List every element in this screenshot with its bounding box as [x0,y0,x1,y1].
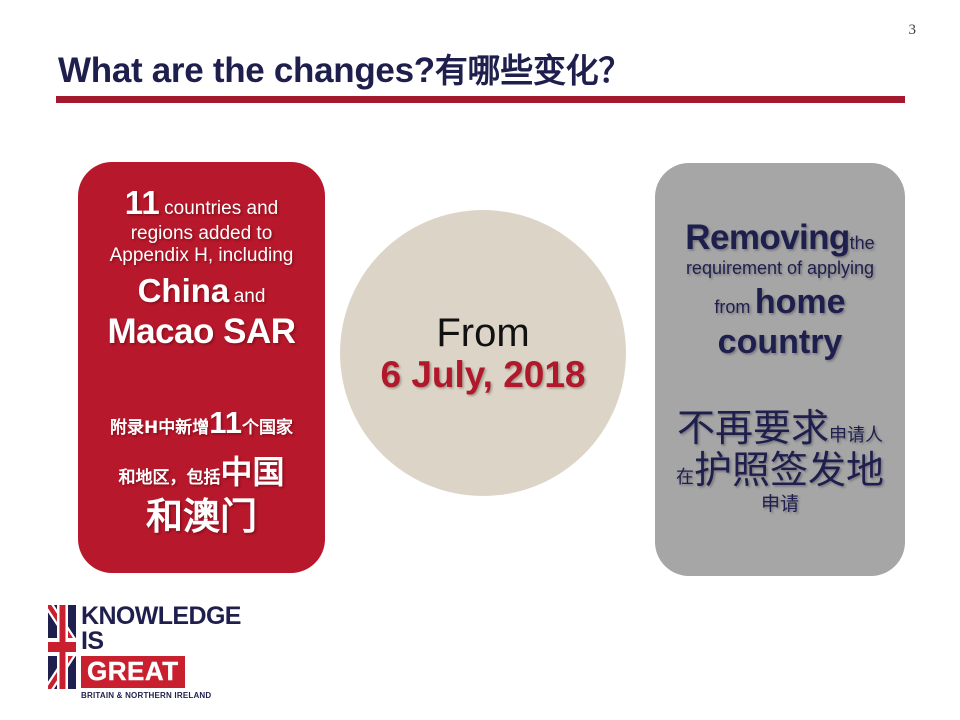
page-title-english: What are the changes? [58,51,435,90]
left-panel-en-line3: Appendix H, including [86,245,317,267]
right-panel-highlight-home: home [755,283,846,321]
effective-date: 6 July, 2018 [380,356,585,395]
right-panel-cn-apply: 申请 [761,493,799,515]
right-panel-english-block: Removingthe requirement of applying from… [655,217,905,362]
right-panel-cn-passport-issue-place: 护照签发地 [694,448,884,492]
right-panel-cn-no-longer-require: 不再要求 [677,406,829,450]
right-panel-highlight-removing: Removing [685,218,849,257]
left-panel-cn-row1-prefix: 附录H中新增 [110,418,209,438]
logo-line-is: IS [81,629,234,654]
left-panel-cn-count: 11 [209,405,242,440]
left-red-panel: 11 countries and regions added to Append… [78,162,325,573]
slide-canvas: 3 What are the changes?有哪些变化？ 11 countri… [0,0,960,720]
left-panel-cn-row1-suffix: 个国家 [242,418,293,438]
page-title-chinese: 有哪些变化？ [435,51,631,90]
left-panel-conjunction: and [234,286,266,307]
logo-line-knowledge: KNOWLEDGE [81,605,234,629]
left-panel-cn-row1: 附录H中新增11个国家 [84,405,319,442]
right-panel-cn-row2: 在护照签发地 [659,451,901,491]
right-panel-small-from: from [714,297,750,317]
left-panel-highlight-macao: Macao SAR [86,311,317,352]
left-panel-chinese-block: 附录H中新增11个国家 和地区，包括中国 和澳门 [78,405,325,535]
left-panel-cn-macao: 和澳门 [146,495,257,538]
title-divider-rule [56,96,905,103]
left-panel-highlight-china: China [138,272,230,309]
left-panel-english-block: 11 countries and regions added to Append… [78,184,325,352]
union-jack-flag-icon [48,605,76,689]
left-panel-en-line1: 11 countries and [86,184,317,223]
right-panel-small-the: the [850,233,875,253]
effective-date-circle: From 6 July, 2018 [340,210,626,496]
logo-line-great: GREAT [87,656,179,686]
right-panel-cn-at: 在 [676,467,694,488]
page-number: 3 [909,22,917,39]
right-panel-en-line1: Removingthe [661,217,899,258]
left-panel-cn-row3: 和澳门 [84,498,319,535]
left-panel-en-line1-rest: countries and [164,198,278,219]
right-panel-chinese-block: 不再要求申请人 在护照签发地 申请 [655,409,905,515]
page-title: What are the changes?有哪些变化？ [58,44,631,92]
left-panel-cn-china: 中国 [220,453,284,491]
left-panel-en-line2: regions added to [86,223,317,245]
left-panel-cn-row2: 和地区，包括中国 [84,456,319,488]
logo-text-block: KNOWLEDGE IS GREAT BRITAIN & NORTHERN IR… [81,605,234,700]
right-panel-cn-row3: 申请 [659,495,901,515]
left-panel-count: 11 [125,184,160,221]
right-panel-cn-row1: 不再要求申请人 [659,409,901,449]
left-panel-cn-row2-prefix: 和地区，包括 [118,468,220,488]
from-label: From [436,312,529,354]
great-britain-logo: KNOWLEDGE IS GREAT BRITAIN & NORTHERN IR… [48,605,234,697]
right-grey-panel: Removingthe requirement of applying from… [655,163,905,576]
right-panel-en-line2: requirement of applying [661,258,899,279]
right-panel-en-line3: from home [661,282,899,322]
logo-subtitle: BRITAIN & NORTHERN IRELAND [81,691,234,700]
left-panel-en-line4: China and [86,272,317,311]
right-panel-cn-applicant: 申请人 [829,425,883,446]
right-panel-highlight-country: country [661,322,899,362]
logo-great-badge: GREAT [81,656,185,688]
